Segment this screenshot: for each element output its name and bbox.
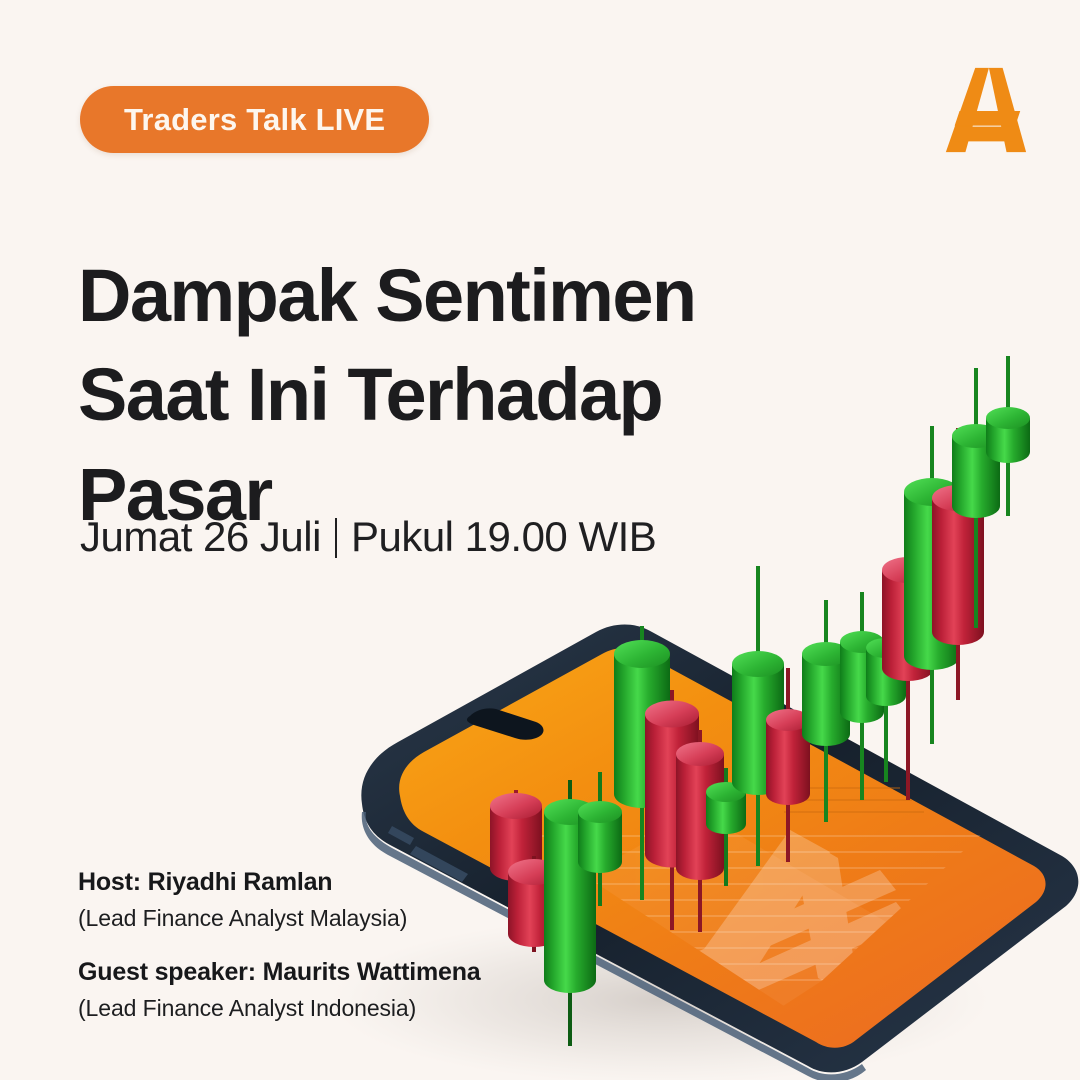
credit-host: Host: Riyadhi Ramlan (Lead Finance Analy… <box>78 866 481 934</box>
credit-guest-name: Guest speaker: Maurits Wattimena <box>78 956 481 990</box>
candle-9-bull <box>732 566 784 866</box>
headline-line-2: Saat Ini Terhadap <box>78 345 798 445</box>
live-badge[interactable]: Traders Talk LIVE <box>80 86 429 153</box>
schedule-line: Jumat 26 Juli Pukul 19.00 WIB <box>80 513 656 561</box>
candle-14-bear <box>882 512 934 800</box>
candle-6-bear <box>645 690 699 930</box>
candle-10-bear <box>766 668 810 862</box>
schedule-date: Jumat 26 Juli <box>80 513 321 561</box>
credit-guest: Guest speaker: Maurits Wattimena (Lead F… <box>78 956 481 1024</box>
credit-guest-role: (Lead Finance Analyst Indonesia) <box>78 992 481 1024</box>
candle-13-bull <box>866 606 906 782</box>
page-title: Dampak Sentimen Saat Ini Terhadap Pasar <box>78 246 798 546</box>
phone-side-button-2 <box>388 826 414 845</box>
candle-17-bull <box>952 368 1000 628</box>
watermark-logo-a <box>660 830 912 1032</box>
candle-2-bear <box>508 856 560 952</box>
phone-notch <box>467 708 544 739</box>
phone-screen <box>399 648 1045 1048</box>
credit-host-name: Host: Riyadhi Ramlan <box>78 866 481 900</box>
live-badge-label: Traders Talk LIVE <box>124 102 385 138</box>
candle-8-bull <box>706 768 746 886</box>
candle-4-bull <box>578 772 622 906</box>
poster-canvas: Traders Talk LIVE Dampak Sentimen Saat I… <box>0 0 1080 1080</box>
candle-12-bull <box>840 592 884 800</box>
candle-16-bear <box>932 428 984 700</box>
screen-stripes <box>520 836 1020 980</box>
screen-accent-lines <box>760 788 924 812</box>
headline-line-1: Dampak Sentimen <box>78 246 798 346</box>
credits-block: Host: Riyadhi Ramlan (Lead Finance Analy… <box>78 866 481 1024</box>
candle-18-bull <box>986 356 1030 516</box>
candle-7-bear <box>676 730 724 932</box>
candle-11-bull <box>802 600 850 822</box>
candle-15-bull <box>904 426 960 744</box>
ascendex-a-logo <box>936 64 1034 156</box>
candle-5-bull <box>614 626 670 900</box>
screen-watermark <box>470 788 1020 1060</box>
candle-3-bull <box>544 780 596 1046</box>
candle-1-bear <box>490 790 542 881</box>
schedule-time: Pukul 19.00 WIB <box>351 513 656 561</box>
schedule-separator <box>335 518 337 558</box>
credit-host-role: (Lead Finance Analyst Malaysia) <box>78 902 481 934</box>
